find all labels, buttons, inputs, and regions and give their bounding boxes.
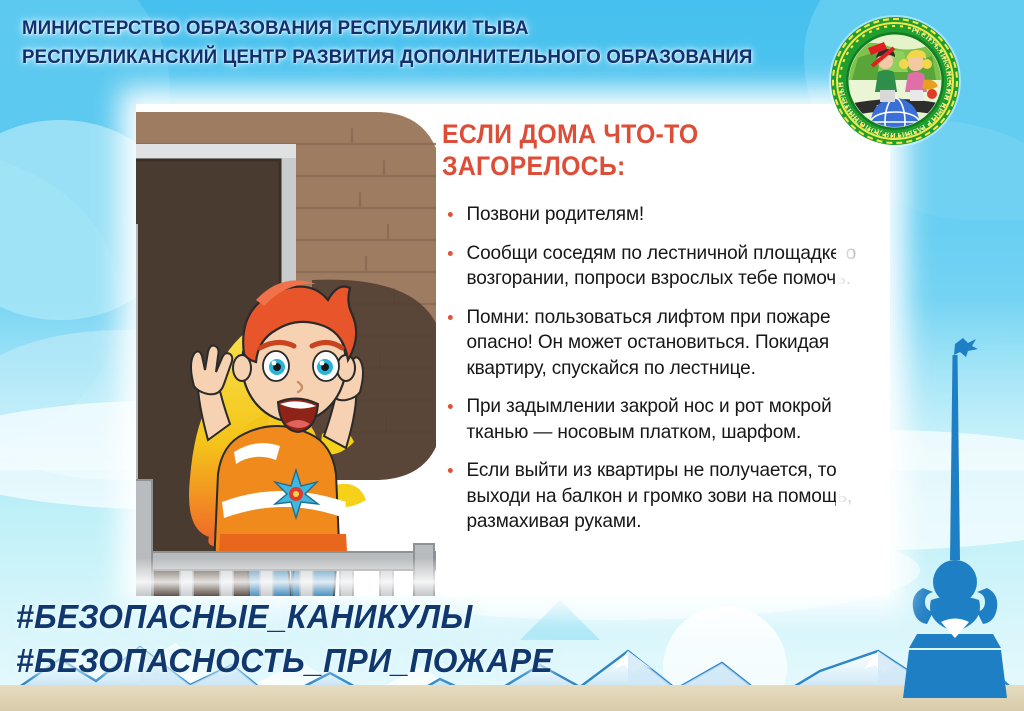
rcdo-logo: РЕСПУБЛИКАНСКИЙ ЦЕНТР РАЗВИТИЯ ДОПОЛНИТЕ… bbox=[828, 14, 962, 148]
card-heading: ЕСЛИ ДОМА ЧТО-ТО ЗАГОРЕЛОСЬ: bbox=[442, 118, 838, 182]
safety-text-column: ЕСЛИ ДОМА ЧТО-ТО ЗАГОРЕЛОСЬ: Позвони род… bbox=[442, 118, 872, 548]
header-line-ministry: МИНИСТЕРСТВО ОБРАЗОВАНИЯ РЕСПУБЛИКИ ТЫВА bbox=[22, 14, 776, 43]
card-right-fade bbox=[836, 104, 892, 596]
organization-header: МИНИСТЕРСТВО ОБРАЗОВАНИЯ РЕСПУБЛИКИ ТЫВА… bbox=[22, 14, 812, 72]
list-item: Помни: пользоваться лифтом при пожаре оп… bbox=[442, 305, 863, 382]
list-item: Позвони родителям! bbox=[442, 202, 863, 228]
card-bottom-fade bbox=[136, 558, 890, 598]
safety-tips-list: Позвони родителям! Сообщи соседям по лес… bbox=[442, 202, 872, 535]
hashtag-block: #БЕЗОПАСНЫЕ_КАНИКУЛЫ #БЕЗОПАСНОСТЬ_ПРИ_П… bbox=[16, 595, 575, 683]
list-item: Если выйти из квартиры не получается, то… bbox=[442, 458, 863, 535]
illustration-boy-on-balcony bbox=[136, 104, 436, 596]
emblem-icon: РЕСПУБЛИКАНСКИЙ ЦЕНТР РАЗВИТИЯ ДОПОЛНИТЕ… bbox=[828, 14, 962, 148]
header-line-center: РЕСПУБЛИКАНСКИЙ ЦЕНТР РАЗВИТИЯ ДОПОЛНИТЕ… bbox=[22, 43, 776, 72]
list-item: При задымлении закрой нос и рот мокрой т… bbox=[442, 394, 863, 445]
poster-canvas: МИНИСТЕРСТВО ОБРАЗОВАНИЯ РЕСПУБЛИКИ ТЫВА… bbox=[0, 0, 1024, 711]
hashtag-safe-holidays: #БЕЗОПАСНЫЕ_КАНИКУЛЫ bbox=[16, 595, 553, 639]
hashtag-fire-safety: #БЕЗОПАСНОСТЬ_ПРИ_ПОЖАРЕ bbox=[16, 639, 553, 683]
list-item: Сообщи соседям по лестничной площадке о … bbox=[442, 241, 863, 292]
content-card: ЕСЛИ ДОМА ЧТО-ТО ЗАГОРЕЛОСЬ: Позвони род… bbox=[136, 104, 890, 596]
illustration-vector bbox=[136, 104, 436, 596]
